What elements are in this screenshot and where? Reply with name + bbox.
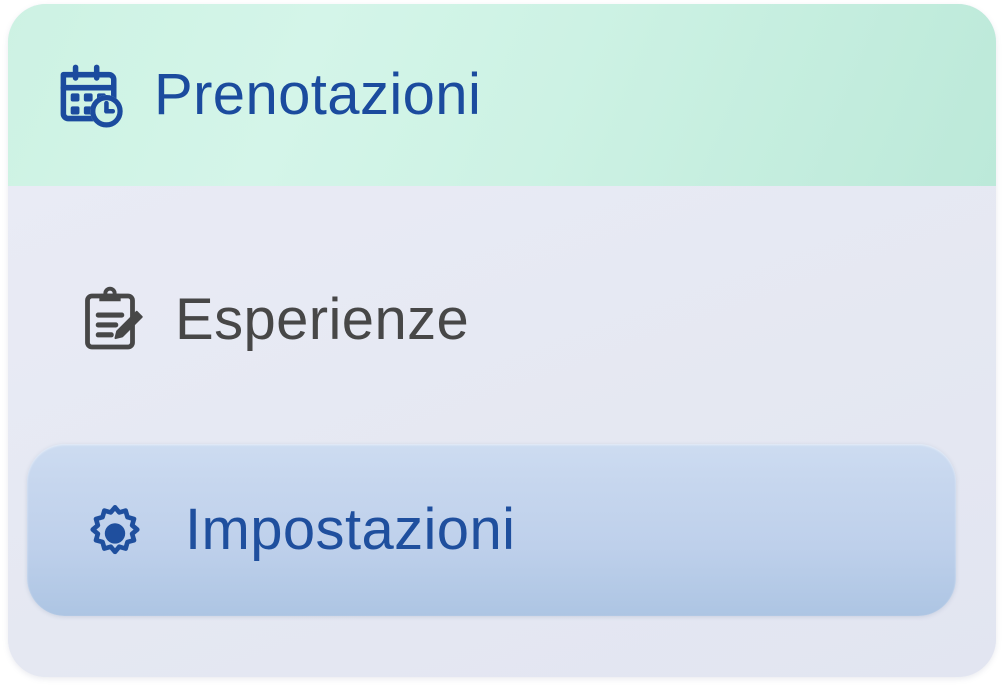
menu-item-label-esperienze: Esperienze [175,291,469,349]
clipboard-pencil-icon [67,284,153,356]
menu-item-impostazioni[interactable]: Impostazioni [27,444,956,616]
menu-item-esperienze[interactable]: Esperienze [27,250,956,390]
menu-item-prenotazioni[interactable]: Prenotazioni [8,4,996,186]
calendar-clock-icon [48,56,134,134]
menu-item-label-prenotazioni: Prenotazioni [154,66,481,124]
menu-list: Esperienze Impostazioni [8,186,996,677]
gear-icon [75,496,155,564]
menu-item-label-impostazioni: Impostazioni [185,501,515,559]
navigation-menu-card: Prenotazioni [8,4,996,677]
